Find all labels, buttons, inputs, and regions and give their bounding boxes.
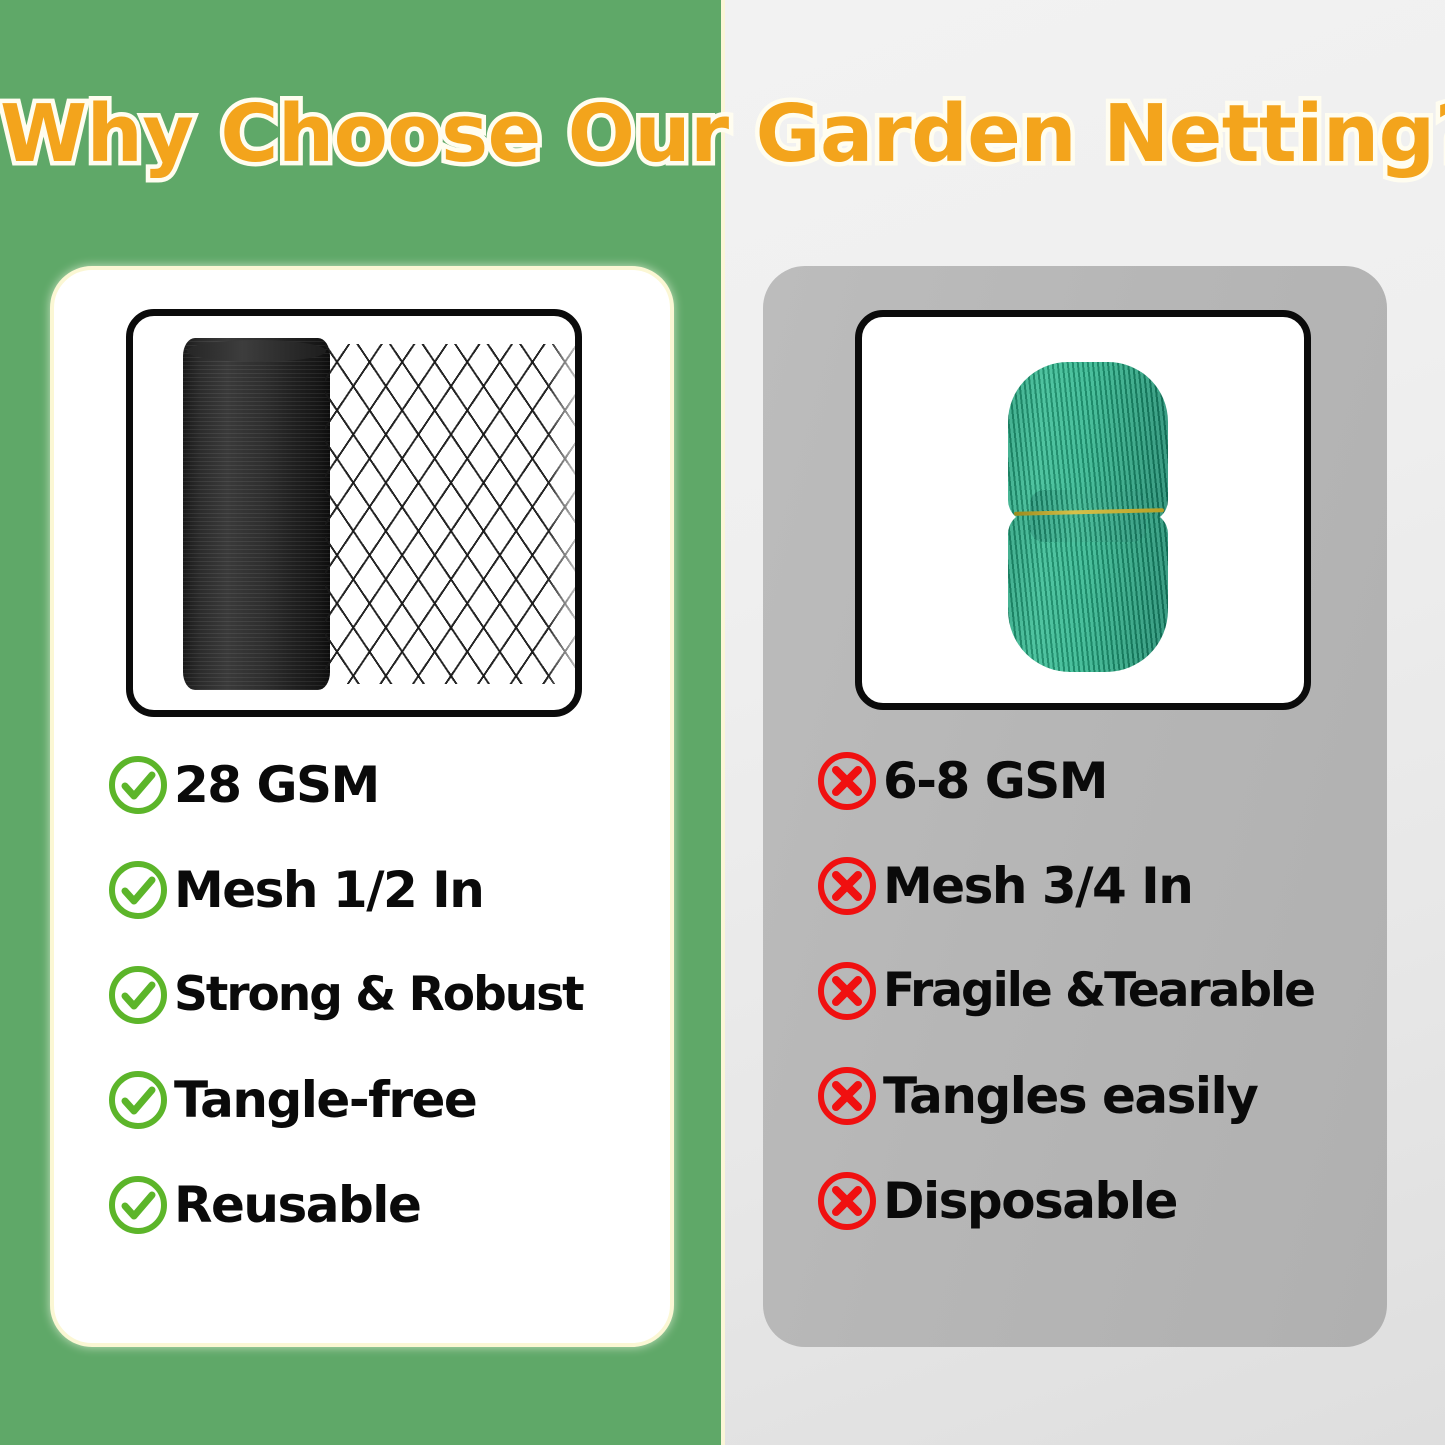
list-item-label: Mesh 1/2 In: [174, 863, 483, 917]
net-bundle-green-image: [1008, 362, 1168, 672]
list-item: Mesh 3/4 In: [815, 833, 1439, 938]
cross-circle-icon: [815, 1169, 879, 1233]
check-circle-icon: [106, 753, 170, 817]
list-item-label: Disposable: [883, 1174, 1177, 1228]
cross-circle-icon: [815, 749, 879, 813]
list-item: Mesh 1/2 In: [106, 837, 722, 942]
list-item: 6-8 GSM: [815, 728, 1439, 833]
cross-circle-icon: [815, 854, 879, 918]
comparison-infographic: Why Choose Our Garden Netting? 28 GSM Me…: [0, 0, 1445, 1445]
right-feature-list: 6-8 GSM Mesh 3/4 In Fragile &Tearable: [763, 728, 1439, 1253]
left-product-photo-frame: [126, 309, 582, 717]
list-item-label: Strong & Robust: [174, 968, 583, 1022]
list-item: Tangles easily: [815, 1043, 1439, 1148]
bundle-waist: [1030, 490, 1146, 542]
check-circle-icon: [106, 1068, 170, 1132]
list-item-label: 28 GSM: [174, 758, 379, 812]
list-item-label: Mesh 3/4 In: [883, 859, 1192, 913]
right-product-card: 6-8 GSM Mesh 3/4 In Fragile &Tearable: [763, 266, 1387, 1347]
right-product-photo-frame: [855, 310, 1311, 710]
net-mesh-pattern-image: [325, 344, 577, 684]
list-item: Tangle-free: [106, 1047, 722, 1152]
list-item-label: Tangle-free: [174, 1073, 476, 1127]
check-circle-icon: [106, 858, 170, 922]
check-circle-icon: [106, 963, 170, 1027]
list-item: Disposable: [815, 1148, 1439, 1253]
net-roll-black-image: [183, 338, 330, 690]
list-item: Strong & Robust: [106, 942, 722, 1047]
cross-circle-icon: [815, 959, 879, 1023]
list-item-label: Tangles easily: [883, 1069, 1257, 1123]
left-feature-list: 28 GSM Mesh 1/2 In Strong & Robust: [54, 732, 722, 1257]
list-item-label: Reusable: [174, 1178, 420, 1232]
list-item-label: Fragile &Tearable: [883, 964, 1314, 1018]
cross-circle-icon: [815, 1064, 879, 1128]
page-title: Why Choose Our Garden Netting?: [0, 86, 1445, 182]
list-item: Reusable: [106, 1152, 722, 1257]
check-circle-icon: [106, 1173, 170, 1237]
left-product-card: 28 GSM Mesh 1/2 In Strong & Robust: [50, 266, 674, 1347]
list-item: Fragile &Tearable: [815, 938, 1439, 1043]
list-item-label: 6-8 GSM: [883, 754, 1107, 808]
list-item: 28 GSM: [106, 732, 722, 837]
